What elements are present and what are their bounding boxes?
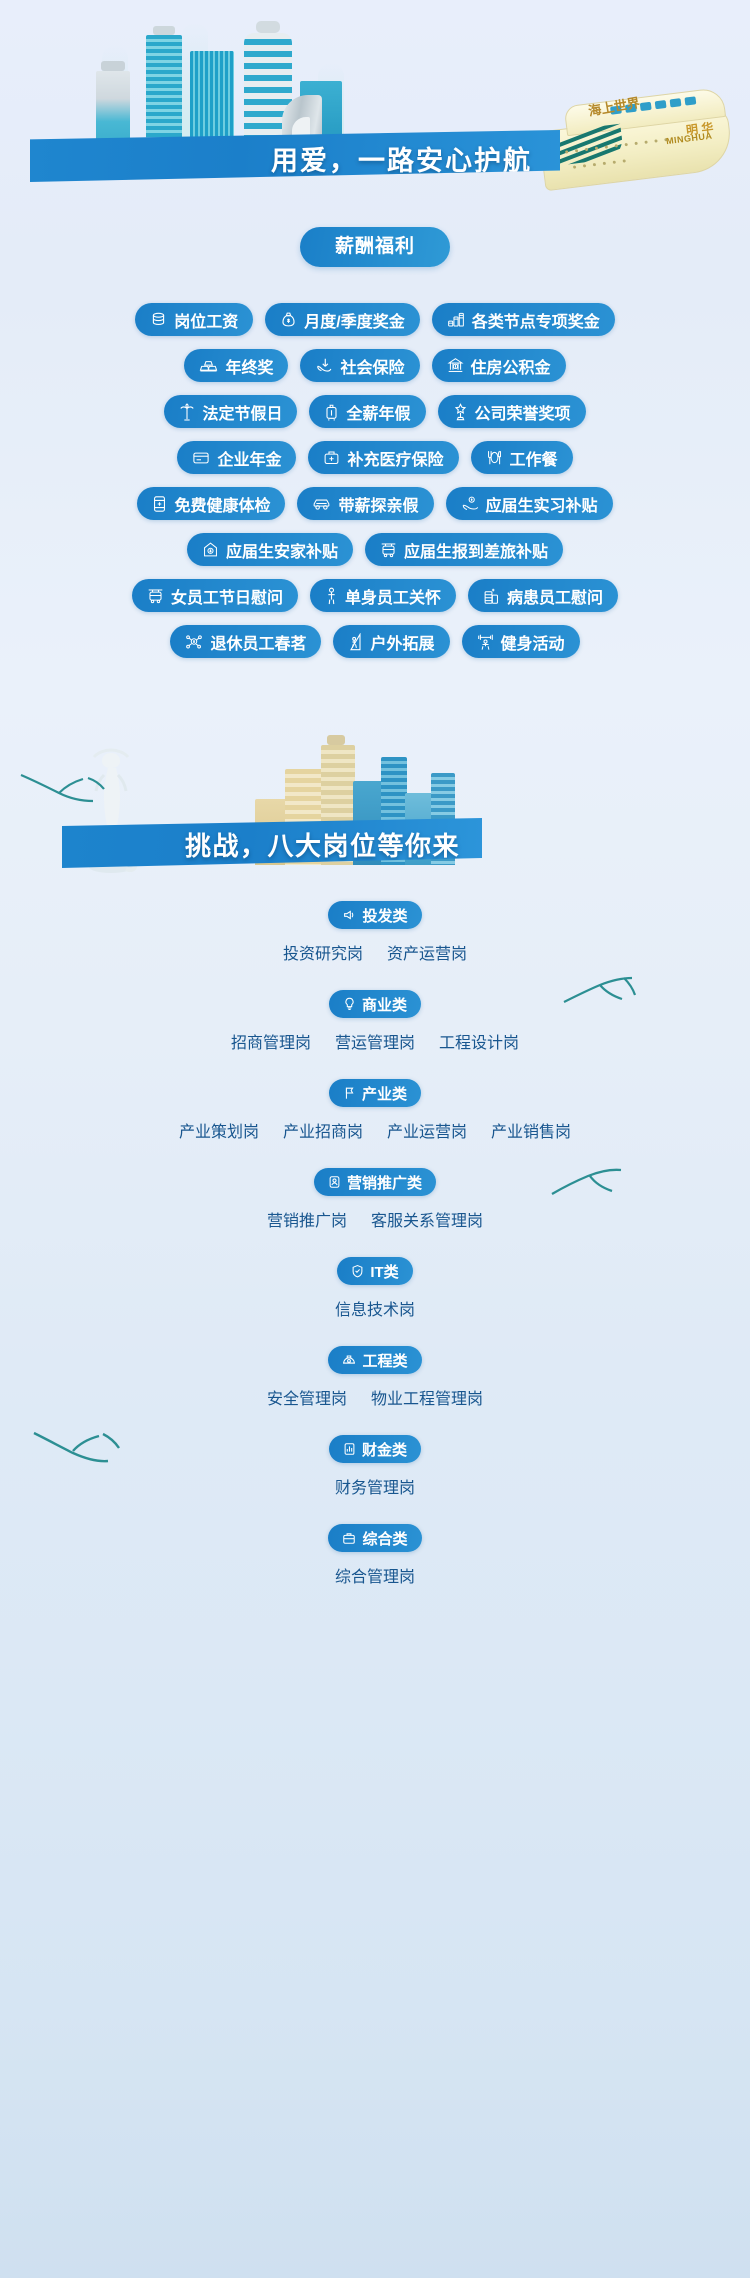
coins-stack-icon bbox=[150, 311, 167, 328]
gold-bars-icon bbox=[199, 357, 218, 374]
benefit-tag[interactable]: 岗位工资 bbox=[135, 303, 253, 336]
job-category-name: 财金类 bbox=[362, 1439, 407, 1460]
person-icon bbox=[325, 587, 338, 605]
benefit-label: 补充医疗保险 bbox=[347, 446, 443, 470]
job-category-name: 工程类 bbox=[362, 1350, 407, 1371]
benefit-tag[interactable]: 工作餐 bbox=[471, 441, 573, 474]
palm-tree-icon bbox=[179, 403, 195, 421]
job-category-pill[interactable]: 营销推广类 bbox=[314, 1168, 436, 1196]
benefit-label: 免费健康体检 bbox=[174, 492, 270, 516]
cruise-ship-illustration: 海上世界 明 华 MINGHUA bbox=[535, 81, 735, 195]
benefit-tag[interactable]: 单身员工关怀 bbox=[310, 579, 456, 612]
benefit-tag[interactable]: 各类节点专项奖金 bbox=[432, 303, 615, 336]
bus-icon bbox=[147, 587, 164, 604]
benefit-label: 健身活动 bbox=[501, 630, 565, 654]
bus-icon bbox=[380, 541, 397, 558]
benefit-tag[interactable]: 补充医疗保险 bbox=[308, 441, 458, 474]
benefit-row: 退休员工春茗 户外拓展 健身活动 bbox=[14, 625, 736, 658]
bank-house-icon bbox=[447, 357, 464, 374]
benefit-label: 社会保险 bbox=[340, 354, 404, 378]
car-icon bbox=[312, 496, 331, 511]
benefit-tag[interactable]: 女员工节日慰问 bbox=[132, 579, 298, 612]
job-position-list: 投资研究岗 资产运营岗 bbox=[14, 940, 736, 964]
positions-illustration: 挑战，八大岗位等你来 bbox=[0, 686, 750, 901]
benefit-row: 免费健康体检 带薪探亲假 应届生实习补贴 bbox=[14, 487, 736, 520]
job-position[interactable]: 财务管理岗 bbox=[335, 1474, 415, 1498]
job-category-name: 商业类 bbox=[362, 994, 407, 1015]
job-position[interactable]: 产业策划岗 bbox=[179, 1118, 259, 1142]
job-position-list: 安全管理岗 物业工程管理岗 bbox=[14, 1385, 736, 1409]
benefit-label: 住房公积金 bbox=[471, 354, 551, 378]
benefit-tag[interactable]: 免费健康体检 bbox=[137, 487, 285, 520]
job-category-pill[interactable]: 综合类 bbox=[328, 1524, 421, 1552]
benefit-label: 应届生实习补贴 bbox=[486, 492, 598, 516]
plate-cutlery-icon bbox=[486, 449, 503, 466]
benefit-label: 月度/季度奖金 bbox=[304, 308, 404, 332]
benefit-label: 全薪年假 bbox=[346, 400, 410, 424]
job-category-group: IT类 信息技术岗 bbox=[14, 1257, 736, 1320]
benefit-label: 各类节点专项奖金 bbox=[472, 308, 600, 332]
header-banner-text: 用爱，一路安心护航 bbox=[271, 139, 532, 178]
user-badge-icon bbox=[328, 1175, 341, 1189]
positions-banner-text: 挑战，八大岗位等你来 bbox=[185, 826, 460, 863]
hand-shield-icon bbox=[315, 357, 333, 374]
suitcase-icon bbox=[324, 403, 339, 421]
benefits-tag-grid: 岗位工资 月度/季度奖金 各类节点专项奖金 年终奖 bbox=[0, 303, 750, 658]
gear-helmet-icon bbox=[342, 1353, 356, 1367]
benefit-label: 工作餐 bbox=[510, 446, 558, 470]
job-category-pill[interactable]: 产业类 bbox=[329, 1079, 421, 1107]
job-position[interactable]: 产业销售岗 bbox=[491, 1118, 571, 1142]
benefit-row: 岗位工资 月度/季度奖金 各类节点专项奖金 bbox=[14, 303, 736, 336]
seagull-icon bbox=[18, 766, 110, 806]
job-position-list: 信息技术岗 bbox=[14, 1296, 736, 1320]
benefit-label: 户外拓展 bbox=[370, 630, 434, 654]
poster-root: 海上世界 明 华 MINGHUA 用爱，一路安心护航 薪酬福利 岗位工资 月度/… bbox=[0, 0, 750, 2278]
benefit-label: 单身员工关怀 bbox=[345, 584, 441, 608]
network-coin-icon bbox=[185, 633, 203, 650]
hospital-icon bbox=[483, 587, 500, 605]
trophy-star-icon bbox=[453, 403, 468, 421]
job-position[interactable]: 综合管理岗 bbox=[335, 1563, 415, 1587]
benefit-tag[interactable]: 社会保险 bbox=[300, 349, 419, 382]
benefit-row: 年终奖 社会保险 住房公积金 bbox=[14, 349, 736, 382]
coin-columns-icon bbox=[447, 311, 465, 328]
benefit-label: 企业年金 bbox=[217, 446, 281, 470]
benefit-tag[interactable]: 户外拓展 bbox=[333, 625, 449, 658]
benefit-label: 应届生安家补贴 bbox=[226, 538, 338, 562]
hand-coin-icon bbox=[461, 495, 479, 512]
money-bag-icon bbox=[280, 311, 297, 328]
benefit-tag[interactable]: 应届生安家补贴 bbox=[187, 533, 353, 566]
house-dollar-icon bbox=[202, 541, 219, 558]
job-position[interactable]: 工程设计岗 bbox=[439, 1029, 519, 1053]
flag-icon bbox=[343, 1086, 356, 1100]
benefits-title: 薪酬福利 bbox=[300, 227, 450, 267]
benefit-row: 女员工节日慰问 单身员工关怀 病患员工慰问 bbox=[14, 579, 736, 612]
job-position-list: 综合管理岗 bbox=[14, 1563, 736, 1587]
job-position[interactable]: 信息技术岗 bbox=[335, 1296, 415, 1320]
positions-list: 投发类 投资研究岗 资产运营岗 商业类 招商管理岗 营运管理岗 工程设计岗 bbox=[0, 901, 750, 1587]
job-position[interactable]: 招商管理岗 bbox=[231, 1029, 311, 1053]
medical-kit-icon bbox=[323, 449, 340, 466]
job-category-name: 综合类 bbox=[362, 1528, 407, 1549]
shield-icon bbox=[351, 1264, 364, 1278]
benefit-row: 应届生安家补贴 应届生报到差旅补贴 bbox=[14, 533, 736, 566]
job-category-name: 投发类 bbox=[362, 905, 407, 926]
climbing-icon bbox=[348, 633, 363, 651]
header-illustration: 海上世界 明 华 MINGHUA 用爱，一路安心护航 bbox=[0, 0, 750, 205]
benefit-row: 法定节假日 全薪年假 公司荣誉奖项 bbox=[14, 395, 736, 428]
job-position[interactable]: 产业运营岗 bbox=[387, 1118, 467, 1142]
benefit-tag[interactable]: 全薪年假 bbox=[309, 395, 425, 428]
job-position[interactable]: 安全管理岗 bbox=[267, 1385, 347, 1409]
job-category-group: 产业类 产业策划岗 产业招商岗 产业运营岗 产业销售岗 bbox=[14, 1079, 736, 1142]
seagull-icon bbox=[30, 1421, 126, 1465]
seagull-icon bbox=[548, 1166, 636, 1206]
job-position[interactable]: 营销推广岗 bbox=[267, 1207, 347, 1231]
job-category-pill[interactable]: 财金类 bbox=[329, 1435, 421, 1463]
benefits-section: 薪酬福利 岗位工资 月度/季度奖金 各类节点专项奖金 bbox=[0, 227, 750, 658]
benefit-label: 女员工节日慰问 bbox=[171, 584, 283, 608]
benefit-tag[interactable]: 法定节假日 bbox=[164, 395, 297, 428]
job-position[interactable]: 资产运营岗 bbox=[387, 940, 467, 964]
job-category-pill[interactable]: 投发类 bbox=[328, 901, 421, 929]
benefit-label: 应届生报到差旅补贴 bbox=[404, 538, 548, 562]
benefit-label: 年终奖 bbox=[225, 354, 273, 378]
job-position[interactable]: 客服关系管理岗 bbox=[371, 1207, 483, 1231]
bar-chart-icon bbox=[343, 1442, 356, 1456]
job-position[interactable]: 物业工程管理岗 bbox=[371, 1385, 483, 1409]
job-category-name: IT类 bbox=[370, 1261, 398, 1282]
job-category-pill[interactable]: 工程类 bbox=[328, 1346, 421, 1374]
job-category-group: 综合类 综合管理岗 bbox=[14, 1524, 736, 1587]
job-category-pill[interactable]: IT类 bbox=[337, 1257, 412, 1285]
benefit-tag[interactable]: 月度/季度奖金 bbox=[265, 303, 419, 336]
megaphone-icon bbox=[342, 908, 356, 922]
benefit-tag[interactable]: 健身活动 bbox=[462, 625, 580, 658]
briefcase-icon bbox=[342, 1531, 356, 1545]
job-position-list: 营销推广岗 客服关系管理岗 bbox=[14, 1207, 736, 1231]
benefit-label: 病患员工慰问 bbox=[507, 584, 603, 608]
job-category-group: 工程类 安全管理岗 物业工程管理岗 bbox=[14, 1346, 736, 1409]
benefit-row: 企业年金 补充医疗保险 工作餐 bbox=[14, 441, 736, 474]
job-position-list: 招商管理岗 营运管理岗 工程设计岗 bbox=[14, 1029, 736, 1053]
job-position[interactable]: 产业招商岗 bbox=[283, 1118, 363, 1142]
benefit-tag[interactable]: 企业年金 bbox=[177, 441, 296, 474]
job-category-pill[interactable]: 商业类 bbox=[329, 990, 421, 1018]
job-category-name: 产业类 bbox=[362, 1083, 407, 1104]
card-icon bbox=[192, 450, 210, 466]
job-position-list: 产业策划岗 产业招商岗 产业运营岗 产业销售岗 bbox=[14, 1118, 736, 1142]
job-position[interactable]: 营运管理岗 bbox=[335, 1029, 415, 1053]
benefit-label: 带薪探亲假 bbox=[338, 492, 418, 516]
benefit-label: 公司荣誉奖项 bbox=[475, 400, 571, 424]
benefit-label: 退休员工春茗 bbox=[210, 630, 306, 654]
benefit-label: 岗位工资 bbox=[174, 308, 238, 332]
benefit-tag[interactable]: 住房公积金 bbox=[432, 349, 566, 382]
benefit-tag[interactable]: 应届生实习补贴 bbox=[446, 487, 613, 520]
job-category-group: 商业类 招商管理岗 营运管理岗 工程设计岗 bbox=[14, 990, 736, 1053]
lightbulb-icon bbox=[343, 997, 356, 1011]
job-position-list: 财务管理岗 bbox=[14, 1474, 736, 1498]
benefit-tag[interactable]: 带薪探亲假 bbox=[297, 487, 433, 520]
benefit-tag[interactable]: 退休员工春茗 bbox=[170, 625, 321, 658]
job-category-name: 营销推广类 bbox=[347, 1172, 422, 1193]
benefit-tag[interactable]: 应届生报到差旅补贴 bbox=[365, 533, 563, 566]
job-category-group: 投发类 投资研究岗 资产运营岗 bbox=[14, 901, 736, 964]
benefit-label: 法定节假日 bbox=[202, 400, 282, 424]
job-position[interactable]: 投资研究岗 bbox=[283, 940, 363, 964]
benefit-tag[interactable]: 年终奖 bbox=[184, 349, 288, 382]
benefit-tag[interactable]: 病患员工慰问 bbox=[468, 579, 618, 612]
benefit-tag[interactable]: 公司荣誉奖项 bbox=[438, 395, 586, 428]
health-report-icon bbox=[152, 495, 167, 513]
weightlifter-icon bbox=[477, 633, 494, 651]
